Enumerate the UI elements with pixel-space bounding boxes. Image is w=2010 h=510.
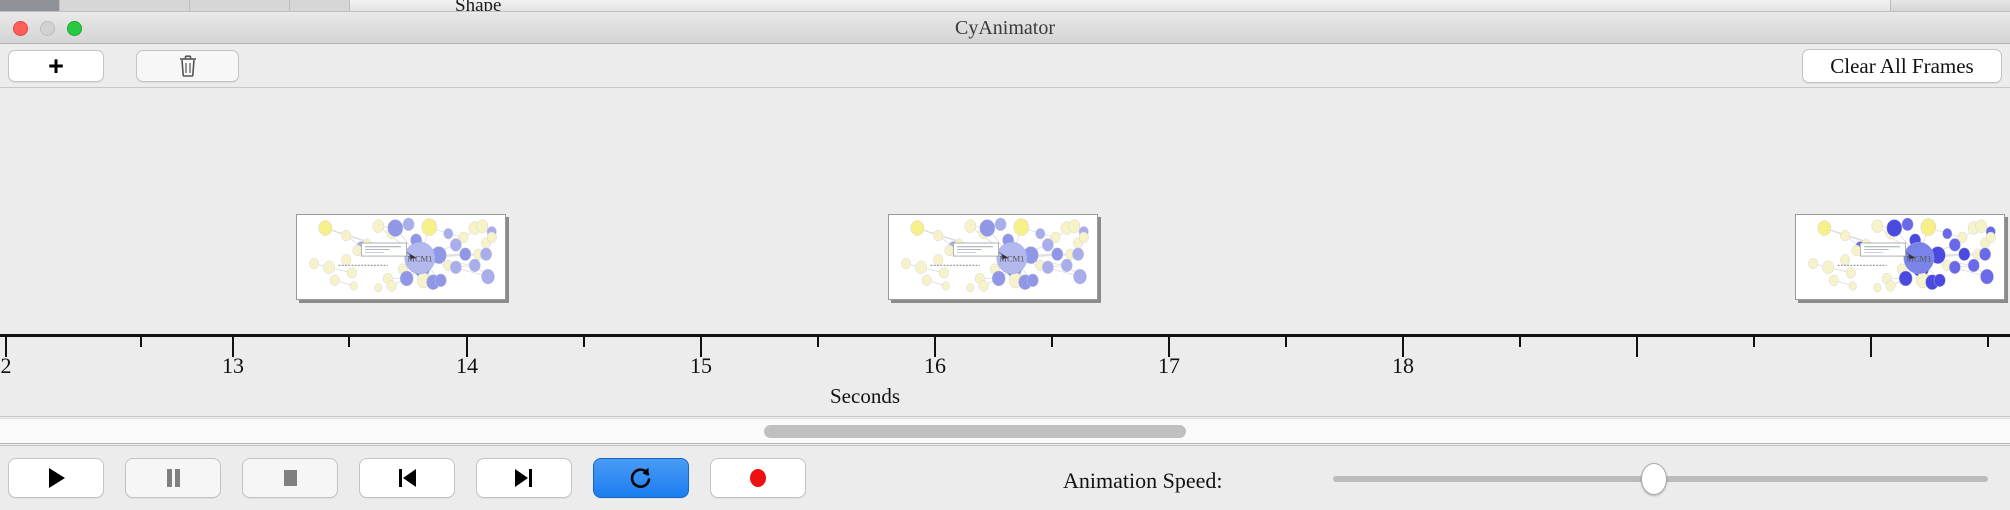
background-chip-right <box>1890 0 2010 12</box>
timeline-tick-label: 14 <box>456 353 478 379</box>
skip-forward-icon <box>512 466 536 490</box>
loop-button[interactable] <box>593 458 689 498</box>
title-bar: CyAnimator <box>0 12 2010 44</box>
pause-icon <box>162 466 184 490</box>
background-window-strip: Shape <box>0 0 2010 12</box>
timeline-tick <box>1285 337 1287 347</box>
timeline-tick-label: 18 <box>1392 353 1414 379</box>
record-icon <box>746 466 770 490</box>
delete-frame-button[interactable] <box>136 50 239 82</box>
timeline-tick-label: 16 <box>924 353 946 379</box>
background-chip <box>290 0 350 12</box>
timeline-tick-label: 13 <box>222 353 244 379</box>
timeline-tick <box>817 337 819 347</box>
axis-title-label: Seconds <box>830 384 900 408</box>
animation-speed-label: Animation Speed: <box>1063 468 1222 494</box>
play-button[interactable] <box>8 458 104 498</box>
add-frame-button[interactable]: + <box>8 50 104 82</box>
timeline-tick-label: 2 <box>1 353 12 379</box>
axis-title: Seconds <box>0 384 2010 409</box>
timeline-tick <box>1987 337 1989 347</box>
slider-thumb[interactable] <box>1641 463 1667 495</box>
timeline-scrollbar[interactable] <box>0 418 2010 444</box>
play-icon <box>45 466 67 490</box>
background-window-label: Shape <box>455 0 501 12</box>
timeline-frame[interactable]: MCM1 <box>1795 214 2005 300</box>
timeline-frame[interactable]: MCM1 <box>296 214 506 300</box>
timeline-tick-label: 17 <box>1158 353 1180 379</box>
animation-speed-slider[interactable] <box>1333 476 1988 482</box>
trash-icon <box>178 54 198 78</box>
timeline-tick <box>140 337 142 347</box>
stop-button[interactable] <box>242 458 338 498</box>
timeline-tick <box>583 337 585 347</box>
timeline-scrollbar-thumb[interactable] <box>764 425 1186 438</box>
cyanimator-window: Shape CyAnimator + Clear All Frames <box>0 0 2010 510</box>
skip-forward-button[interactable] <box>476 458 572 498</box>
window-title: CyAnimator <box>0 17 2010 40</box>
timeline-tick <box>348 337 350 347</box>
skip-back-button[interactable] <box>359 458 455 498</box>
clear-all-frames-label: Clear All Frames <box>1830 54 1973 79</box>
timeline-tick <box>1870 337 1872 357</box>
stop-icon <box>279 466 301 490</box>
pause-button[interactable] <box>125 458 221 498</box>
clear-all-frames-button[interactable]: Clear All Frames <box>1802 49 2002 83</box>
timeline-tick-label: 15 <box>690 353 712 379</box>
timeline-tick <box>1636 337 1638 357</box>
timeline-tick <box>1051 337 1053 347</box>
background-chip <box>0 0 60 12</box>
timeline-panel[interactable]: MCM1MCM1MCM1 2131415161718 Seconds <box>0 89 2010 417</box>
toolbar: + Clear All Frames <box>0 44 2010 88</box>
plus-icon: + <box>48 53 64 80</box>
timeline-tick <box>1753 337 1755 347</box>
timeline-frame[interactable]: MCM1 <box>888 214 1098 300</box>
timeline-tick <box>1519 337 1521 347</box>
background-chip <box>190 0 290 12</box>
playback-bar: Animation Speed: <box>0 445 2010 510</box>
loop-icon <box>628 465 654 491</box>
timeline-ruler-line <box>0 334 2010 337</box>
record-button[interactable] <box>710 458 806 498</box>
background-chip <box>60 0 190 12</box>
skip-back-icon <box>395 466 419 490</box>
